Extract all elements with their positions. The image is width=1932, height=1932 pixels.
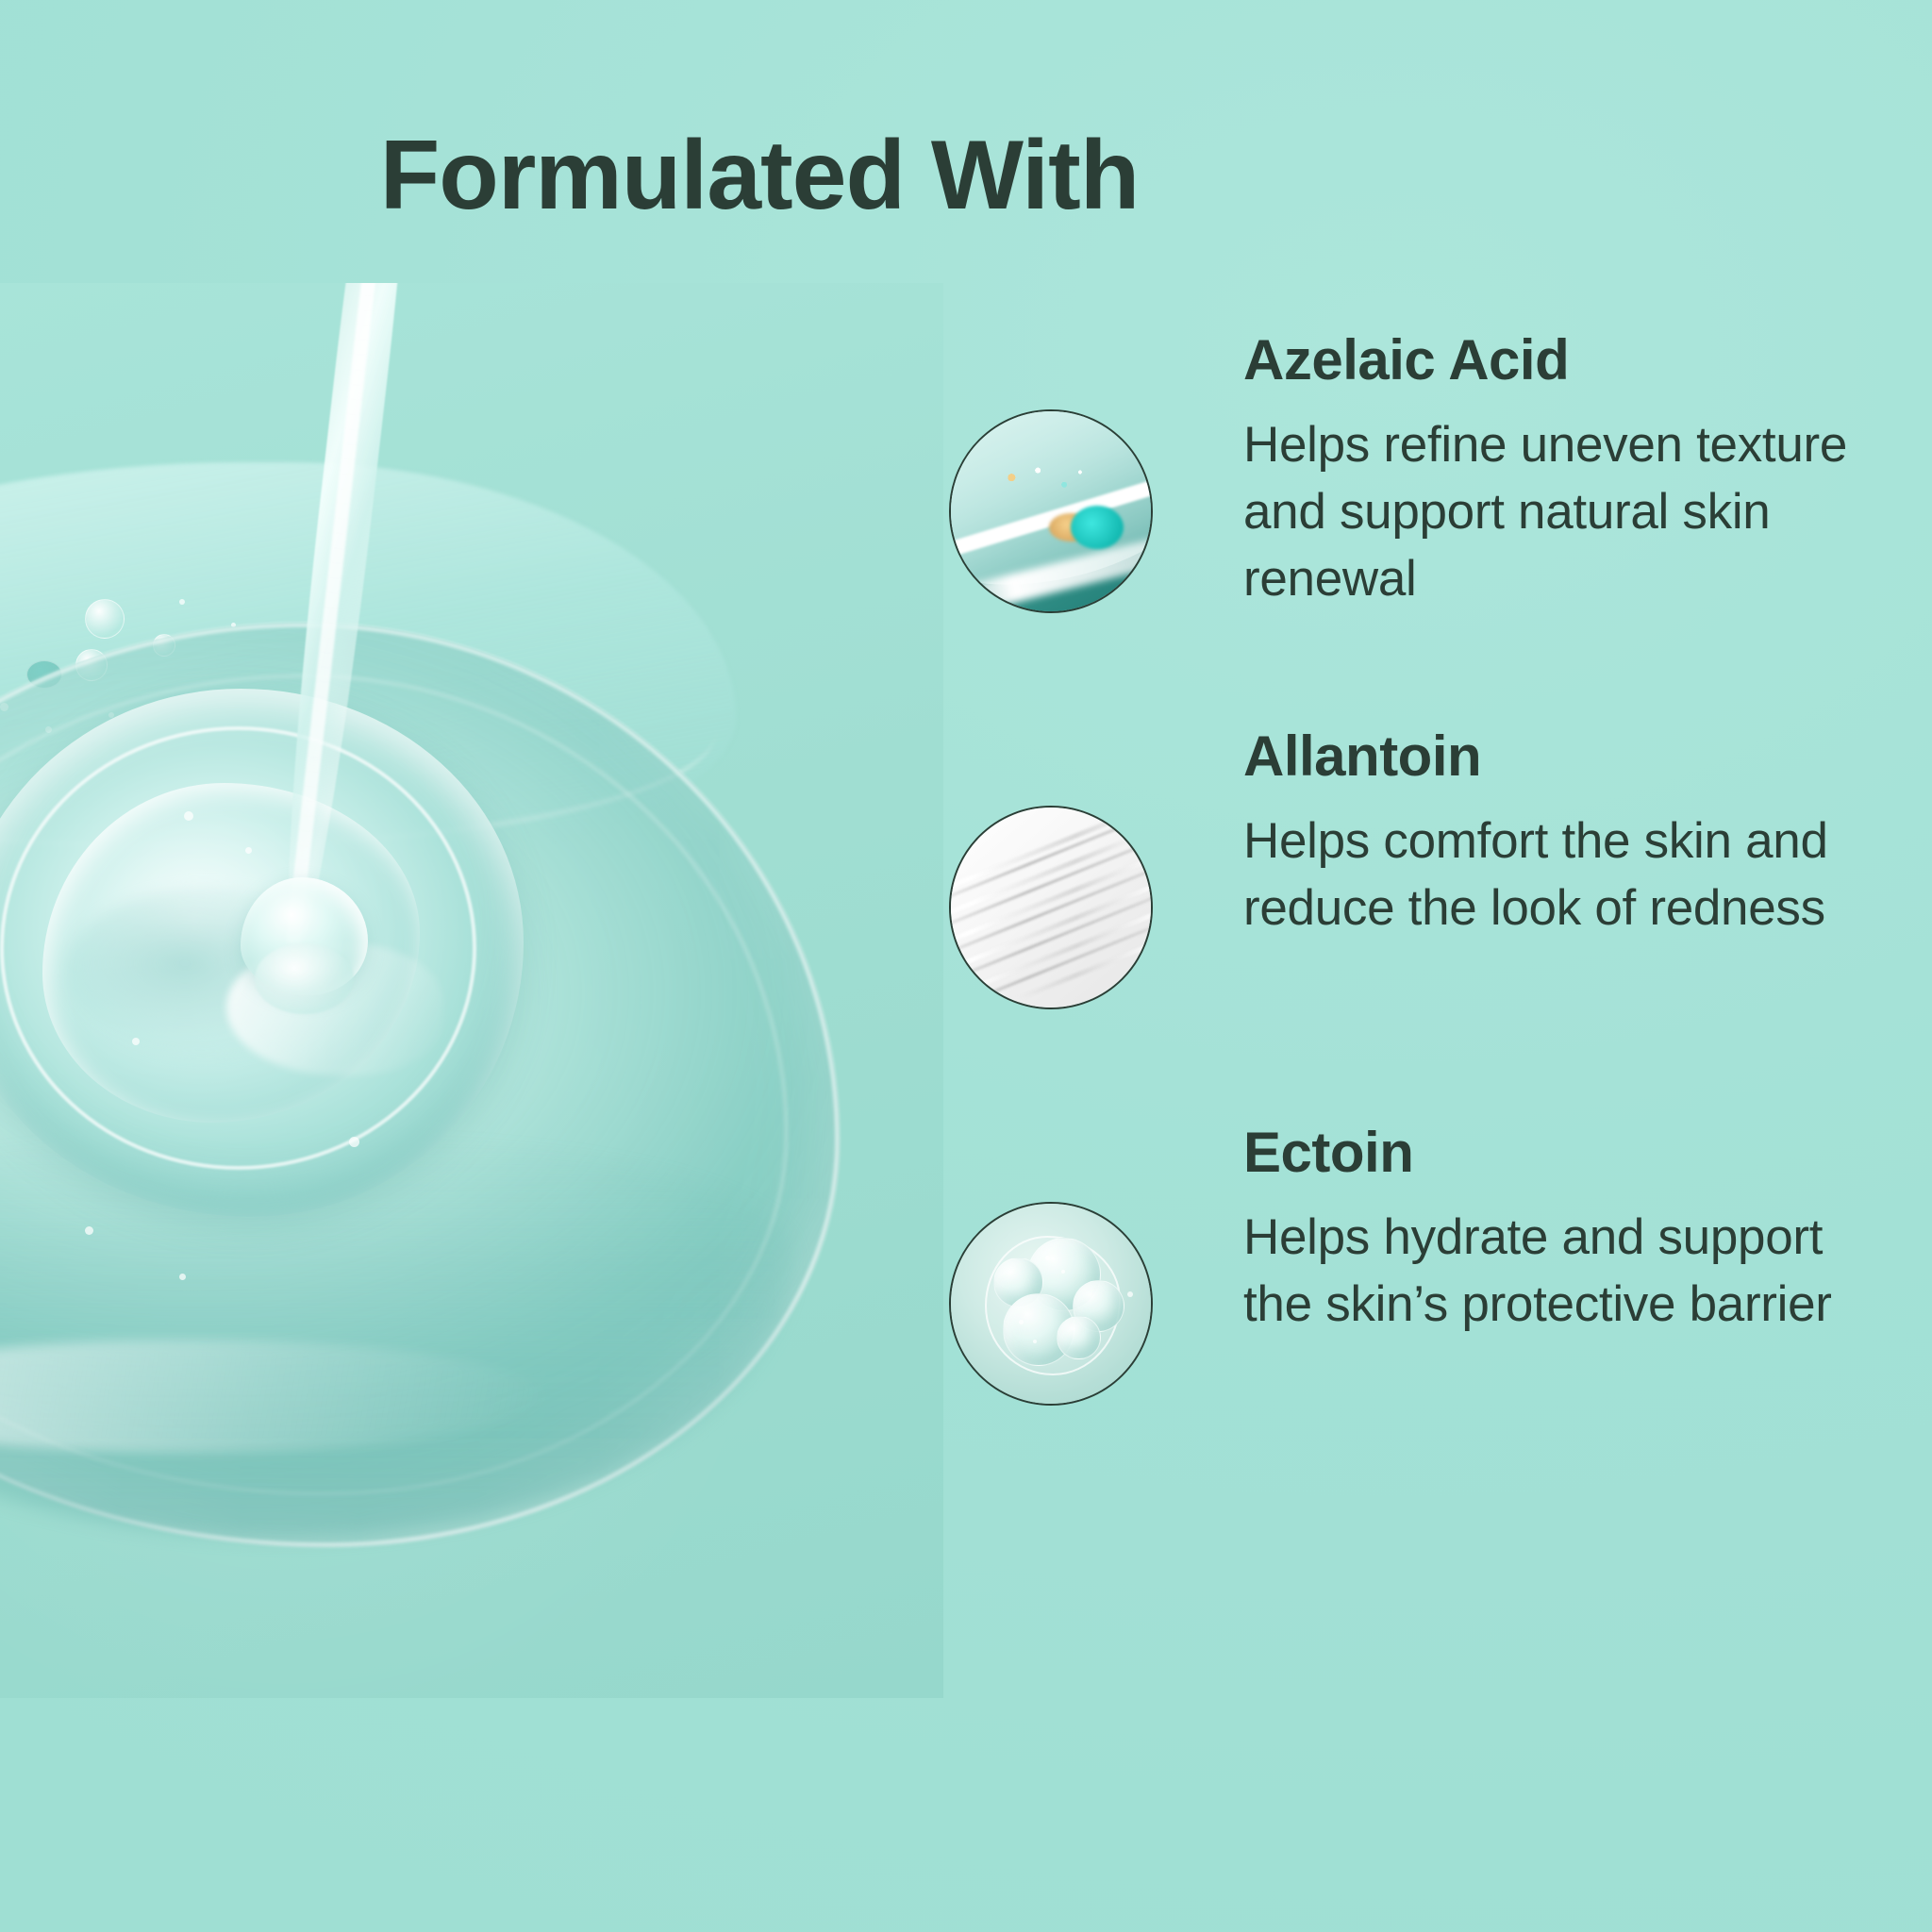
ingredient-description: Helps hydrate and support the skin’s pro…: [1243, 1202, 1887, 1338]
ingredient-description: Helps comfort the skin and reduce the lo…: [1243, 806, 1887, 941]
ingredient-item-azelaic-acid: Azelaic Acid Helps refine uneven texture…: [943, 332, 1887, 615]
infographic-canvas: Formulated With Azelaic Acid Helps refin…: [0, 0, 1932, 1932]
gel-texture-icon: [949, 409, 1153, 613]
cream-texture-icon: [949, 806, 1153, 1009]
crater-micro-bubble: [184, 811, 193, 821]
crater-micro-bubble: [132, 1038, 140, 1045]
ingredient-item-allantoin: Allantoin: [943, 728, 1887, 1011]
ingredient-list: Azelaic Acid Helps refine uneven texture…: [943, 332, 1887, 1521]
crater-micro-bubble: [85, 1226, 93, 1235]
ingredient-name: Allantoin: [1243, 728, 1887, 785]
gel-micro-bubble: [179, 599, 185, 605]
serum-gel-photo: [0, 283, 943, 1698]
ingredient-name: Ectoin: [1243, 1124, 1887, 1181]
crater-micro-bubble: [179, 1274, 186, 1280]
serum-stream-bulb-inner: [255, 943, 354, 1014]
crater-micro-bubble: [349, 1137, 359, 1147]
ingredient-name: Azelaic Acid: [1243, 332, 1887, 389]
ingredient-description: Helps refine uneven texture and support …: [1243, 409, 1887, 612]
page-title: Formulated With: [0, 125, 1519, 227]
gel-bubble: [85, 599, 125, 639]
crater-micro-bubble: [245, 847, 252, 854]
ingredient-item-ectoin: Ectoin: [943, 1124, 1887, 1407]
hydration-bubbles-icon: [949, 1202, 1153, 1406]
